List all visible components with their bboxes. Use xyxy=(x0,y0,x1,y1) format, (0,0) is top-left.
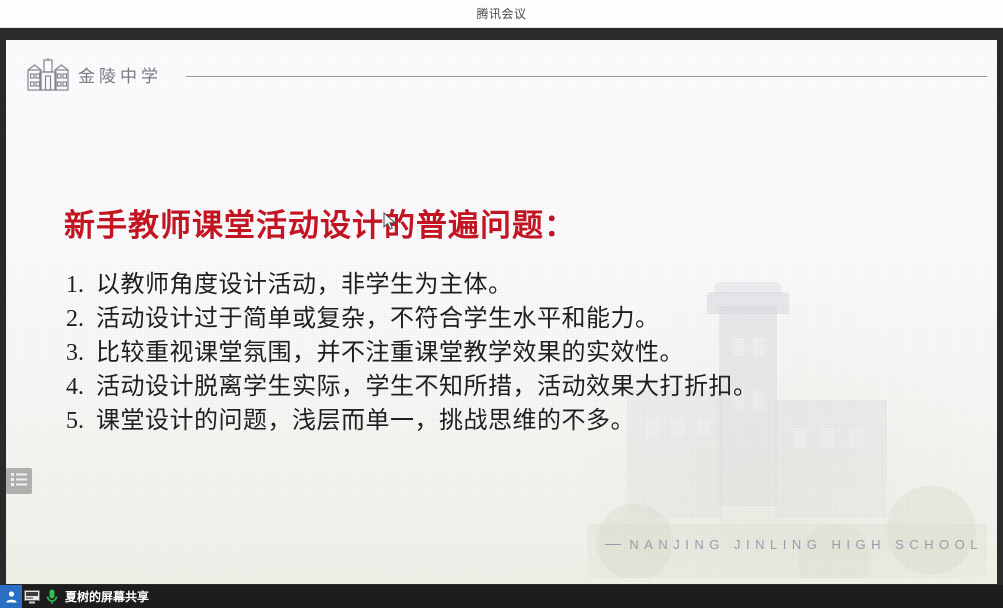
list-item: 3. 比较重视课堂氛围，并不注重课堂教学效果的实效性。 xyxy=(66,336,758,370)
list-item-number: 3. xyxy=(66,337,96,370)
window-titlebar: 腾讯会议 xyxy=(0,0,1003,28)
mouse-cursor-icon xyxy=(383,212,397,232)
tencent-meeting-window: 腾讯会议 xyxy=(0,0,1003,608)
footer-dash xyxy=(605,544,621,545)
taskbar-share-label: 夏树的屏幕共享 xyxy=(62,588,155,605)
list-item-text: 比较重视课堂氛围，并不注重课堂教学效果的实效性。 xyxy=(96,336,684,369)
frame-bottom-edge xyxy=(0,584,1003,585)
list-item-text: 以教师角度设计活动，非学生为主体。 xyxy=(96,268,513,301)
presentation-slide: 金陵中学 新手教师课堂活动设计的普遍问题： 1. 以教师角度设计活动，非学生为主… xyxy=(6,40,997,584)
list-menu-icon xyxy=(11,472,27,491)
school-building-icon xyxy=(26,58,70,92)
problem-list: 1. 以教师角度设计活动，非学生为主体。 2. 活动设计过于简单或复杂，不符合学… xyxy=(66,268,758,438)
list-item-text: 课堂设计的问题，浅层而单一，挑战思维的不多。 xyxy=(96,404,635,437)
slide-header: 金陵中学 xyxy=(6,54,997,102)
list-item-number: 1. xyxy=(66,269,96,302)
window-title: 腾讯会议 xyxy=(0,0,1003,28)
person-icon[interactable] xyxy=(0,585,22,608)
list-item-number: 5. xyxy=(66,405,96,438)
monitor-share-icon[interactable] xyxy=(22,585,42,608)
microphone-icon[interactable] xyxy=(42,585,62,608)
list-item: 2. 活动设计过于简单或复杂，不符合学生水平和能力。 xyxy=(66,302,758,336)
slide-title: 新手教师课堂活动设计的普遍问题： xyxy=(64,200,576,245)
list-item-text: 活动设计脱离学生实际，学生不知所措，活动效果大打折扣。 xyxy=(96,370,758,403)
taskbar: 夏树的屏幕共享 xyxy=(0,585,1003,608)
list-item-number: 2. xyxy=(66,303,96,336)
list-item-number: 4. xyxy=(66,371,96,404)
list-item: 1. 以教师角度设计活动，非学生为主体。 xyxy=(66,268,758,302)
list-item: 5. 课堂设计的问题，浅层而单一，挑战思维的不多。 xyxy=(66,404,758,438)
footer-brand-text: NANJING JINLING HIGH SCHOOL xyxy=(629,537,983,552)
list-item: 4. 活动设计脱离学生实际，学生不知所措，活动效果大打折扣。 xyxy=(66,370,758,404)
school-name: 金陵中学 xyxy=(78,62,162,87)
slide-footer: NANJING JINLING HIGH SCHOOL xyxy=(605,537,983,552)
list-menu-button[interactable] xyxy=(6,468,32,494)
frame-left-edge xyxy=(0,28,6,585)
header-divider xyxy=(186,76,987,77)
list-item-text: 活动设计过于简单或复杂，不符合学生水平和能力。 xyxy=(96,302,660,335)
frame-right-edge xyxy=(997,28,1003,585)
